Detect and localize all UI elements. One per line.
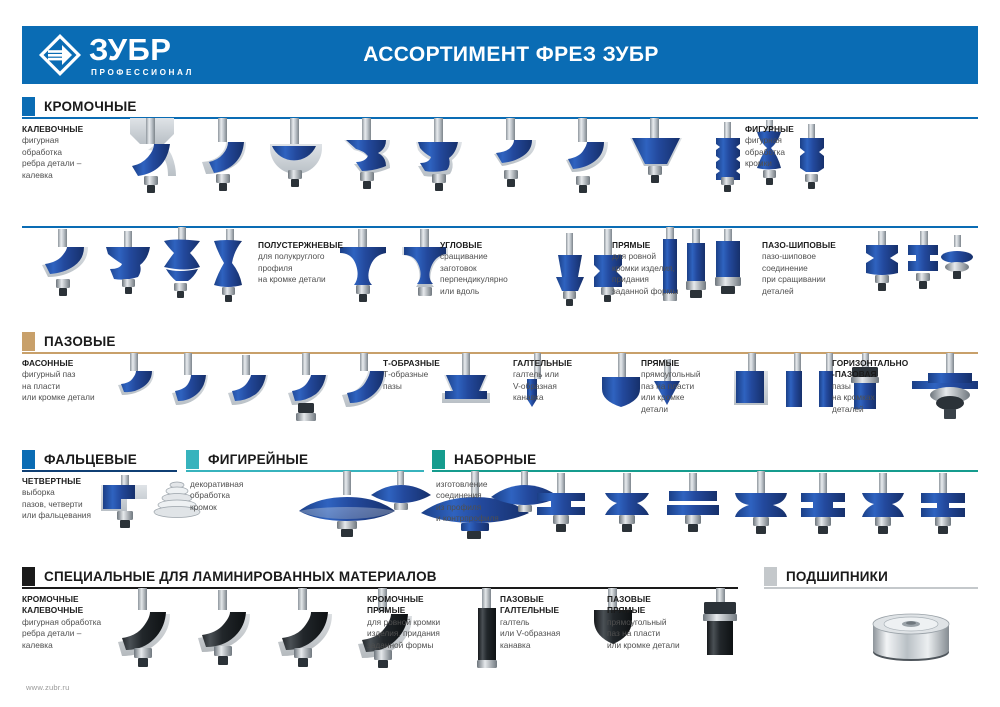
section-chip-icon [764,567,777,586]
group-heading: ГАЛТЕЛЬНЫЕ [513,358,572,369]
group-heading: ПАЗОВЫЕ [607,594,680,605]
section-chip-icon [186,450,199,469]
footer-url[interactable]: www.zubr.ru [26,683,70,692]
zubr-arrow-diamond-icon [38,33,82,77]
group-chetvertnye: ЧЕТВЕРТНЫЕ выборка пазов, четверти или ф… [22,476,91,522]
group-body-line: придания [612,274,678,285]
group-body-line: прямоугольный [607,617,680,628]
group-galtelnye: ГАЛТЕЛЬНЫЕ галтель или V-образная канавк… [513,358,572,404]
group-body-line: фигурный паз [22,369,95,380]
group-body-line: изделия, придания [367,628,440,639]
group-body-line: или фальцевания [22,510,91,521]
group-fasonnye: ФАСОННЫЕ фигурный паз на пласти или кром… [22,358,95,404]
section-header-nabornye: НАБОРНЫЕ [432,449,536,469]
bit-illustration-row-1 [118,118,838,206]
section-chip-icon [22,332,35,351]
group-pazovye-pryamye: ПАЗОВЫЕ ПРЯМЫЕ прямоугольный паз на плас… [607,594,680,651]
group-body-line: паз на пласти [607,628,680,639]
section-header-faltsevye: ФАЛЬЦЕВЫЕ [22,449,137,469]
group-body-line: галтель или [513,369,572,380]
group-body-line: на кромке детали [258,274,343,285]
group-body-line: кромки изделия, [612,263,678,274]
group-body-line: детали [641,404,701,415]
brand-name: ЗУБР [89,34,194,65]
group-heading: ПРЯМЫЕ [641,358,701,369]
group-body-line: кромки [745,158,794,169]
group-body-line: калевка [22,640,101,651]
group-nabornye-desc: изготовление соединения из профиля и кон… [436,479,499,525]
group-body-line: изготовление [436,479,499,490]
section-title: НАБОРНЫЕ [454,452,536,467]
group-body-line: на кромках [832,392,908,403]
brand-tagline: ПРОФЕССИОНАЛ [91,68,194,77]
section-title: ФИГИРЕЙНЫЕ [208,452,308,467]
group-body-line: пазы [832,381,908,392]
group-pazo-shipovye: ПАЗО-ШИПОВЫЕ пазо-шиповое соединение при… [762,240,836,297]
group-body-line: выборка [22,487,91,498]
group-kalevochnye: КАЛЕВОЧНЫЕ фигурная обработка ребра дета… [22,124,83,181]
section-rule [764,587,978,589]
group-heading: ПРЯМЫЕ [607,605,680,616]
group-body-line: или кромке [641,392,701,403]
group-body-line: и контрпрофиля [436,513,499,524]
section-title: ФАЛЬЦЕВЫЕ [44,452,137,467]
group-gorizontalno-pazovaya: ГОРИЗОНТАЛЬНО -ПАЗОВАЯ пазы на кромках д… [832,358,908,415]
group-heading: КАЛЕВОЧНЫЕ [22,605,101,616]
group-body-line: канавка [513,392,572,403]
group-body-line: деталей [762,286,836,297]
group-heading: УГЛОВЫЕ [440,240,508,251]
section-chip-icon [22,567,35,586]
group-uglovye: УГЛОВЫЕ сращивание заготовок перпендикул… [440,240,508,297]
group-body-line: ребра детали – [22,158,83,169]
group-body-line: соединение [762,263,836,274]
section-title: ПОДШИПНИКИ [786,569,888,584]
group-body-line: обработка [190,490,243,501]
group-body-line: декоративная [190,479,243,490]
section-header-podshipniki: ПОДШИПНИКИ [764,566,888,586]
group-body-line: или кромке детали [22,392,95,403]
group-body-line: на пласти [22,381,95,392]
group-body-line: для полукруглого [258,251,343,262]
group-body-line: профиля [258,263,343,274]
section-title: ПАЗОВЫЕ [44,334,116,349]
brand-logo: ЗУБР ПРОФЕССИОНАЛ [22,33,194,77]
group-kromochnye-kalevochnye: КРОМОЧНЫЕ КАЛЕВОЧНЫЕ фигурная обработка … [22,594,101,651]
group-body-line: перпендикулярно [440,274,508,285]
group-body-line: для ровной [612,251,678,262]
bearing-illustration [856,608,966,664]
group-body-line: соединения [436,490,499,501]
section-header-specialnye: СПЕЦИАЛЬНЫЕ ДЛЯ ЛАМИНИРОВАННЫХ МАТЕРИАЛО… [22,566,437,586]
group-body-line: обработка [745,147,794,158]
group-body-line: паз на пласти [641,381,701,392]
section-title: КРОМОЧНЫЕ [44,99,137,114]
group-body-line: пазо-шиповое [762,251,836,262]
group-body-line: из профиля [436,502,499,513]
group-kromochnye-pryamye: КРОМОЧНЫЕ ПРЯМЫЕ для ровной кромки издел… [367,594,440,651]
group-body-line: при сращивании [762,274,836,285]
group-pryamye-kromochnye: ПРЯМЫЕ для ровной кромки изделия, придан… [612,240,678,297]
group-body-line: фигурная [745,135,794,146]
group-heading: -ПАЗОВАЯ [832,369,908,380]
group-heading: ПАЗО-ШИПОВЫЕ [762,240,836,251]
group-body-line: или V-образная [500,628,560,639]
group-body-line: обработка [22,147,83,158]
section-header-figireynye: ФИГИРЕЙНЫЕ [186,449,308,469]
group-body-line: заданной формы [612,286,678,297]
group-heading: ФИГУРНЫЕ [745,124,794,135]
group-heading: ПОЛУСТЕРЖНЕВЫЕ [258,240,343,251]
group-body-line: V-образная [513,381,572,392]
group-body-line: сращивание [440,251,508,262]
group-heading: КАЛЕВОЧНЫЕ [22,124,83,135]
group-body-line: ребра детали – [22,628,101,639]
group-heading: ЧЕТВЕРТНЫЕ [22,476,91,487]
group-body-line: или вдоль [440,286,508,297]
group-polusterzhnevye: ПОЛУСТЕРЖНЕВЫЕ для полукруглого профиля … [258,240,343,286]
group-heading: ФАСОННЫЕ [22,358,95,369]
group-heading: КРОМОЧНЫЕ [367,594,440,605]
page-header: ЗУБР ПРОФЕССИОНАЛ АССОРТИМЕНТ ФРЕЗ ЗУБР [22,26,978,84]
group-body-line: для ровной кромки [367,617,440,628]
group-body-line: пазов, четверти [22,499,91,510]
group-body-line: или кромке детали [607,640,680,651]
group-body-line: калевка [22,170,83,181]
section-header-kromochnye: КРОМОЧНЫЕ [22,96,137,116]
group-figurnye: ФИГУРНЫЕ фигурная обработка кромки [745,124,794,170]
group-heading: ГАЛТЕЛЬНЫЕ [500,605,560,616]
group-pryamye-pazovye: ПРЯМЫЕ прямоугольный паз на пласти или к… [641,358,701,415]
group-pazovye-galtelnye: ПАЗОВЫЕ ГАЛТЕЛЬНЫЕ галтель или V-образна… [500,594,560,651]
group-body-line: прямоугольный [641,369,701,380]
group-heading: ПАЗОВЫЕ [500,594,560,605]
page-title: АССОРТИМЕНТ ФРЕЗ ЗУБР [194,43,978,67]
group-body-line: пазы [383,381,440,392]
group-body-line: канавка [500,640,560,651]
group-body-line: заготовок [440,263,508,274]
section-header-pazovye: ПАЗОВЫЕ [22,331,116,351]
group-body-line: Т-образные [383,369,440,380]
section-chip-icon [22,450,35,469]
group-figireynye-desc: декоративная обработка кромок [190,479,243,513]
group-heading: ГОРИЗОНТАЛЬНО [832,358,908,369]
group-body-line: фигурная обработка [22,617,101,628]
group-heading: ПРЯМЫЕ [612,240,678,251]
catalog-poster: ЗУБР ПРОФЕССИОНАЛ АССОРТИМЕНТ ФРЕЗ ЗУБР … [0,0,1000,707]
group-body-line: деталей [832,404,908,415]
group-body-line: заданной формы [367,640,440,651]
group-heading: ПРЯМЫЕ [367,605,440,616]
section-title: СПЕЦИАЛЬНЫЕ ДЛЯ ЛАМИНИРОВАННЫХ МАТЕРИАЛО… [44,569,437,584]
group-heading: КРОМОЧНЫЕ [22,594,101,605]
section-chip-icon [22,97,35,116]
group-body-line: кромок [190,502,243,513]
group-t-obraznye: Т-ОБРАЗНЫЕ Т-образные пазы [383,358,440,392]
group-body-line: фигурная [22,135,83,146]
group-heading: Т-ОБРАЗНЫЕ [383,358,440,369]
group-body-line: галтель [500,617,560,628]
section-chip-icon [432,450,445,469]
